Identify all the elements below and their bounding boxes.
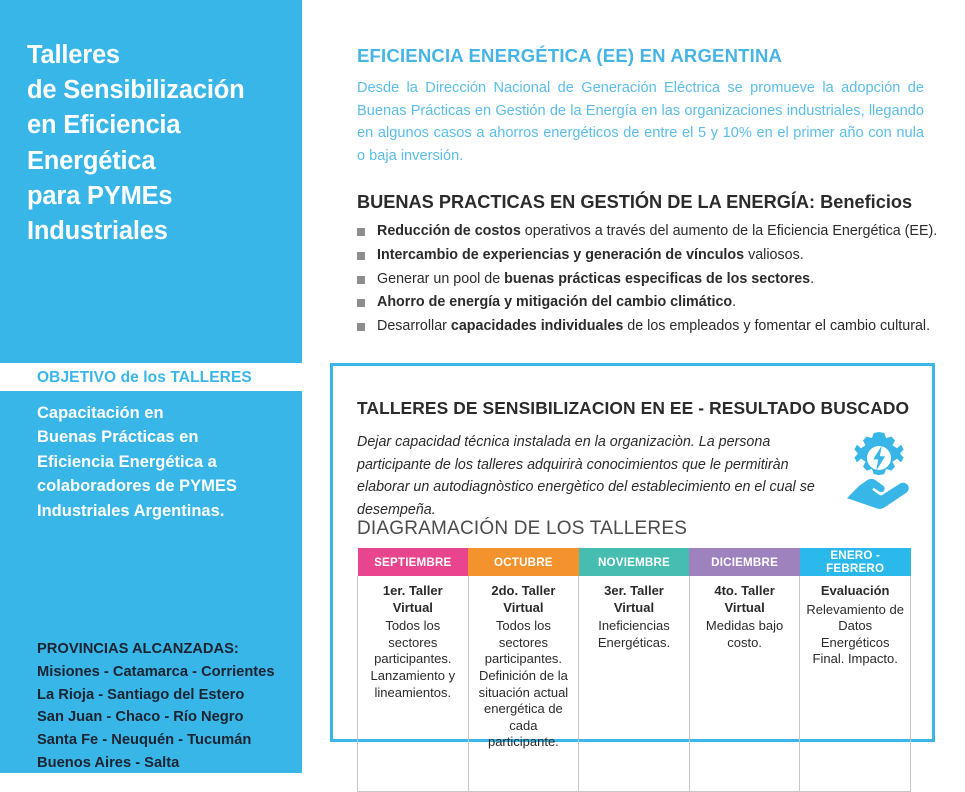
table-header-cell: SEPTIEMBRE xyxy=(358,548,469,576)
benefit-rest: . xyxy=(732,294,736,310)
objetivo-text: Capacitación enBuenas Prácticas enEficie… xyxy=(37,401,295,523)
list-item: Ahorro de energía y mitigación del cambi… xyxy=(357,292,932,313)
cell-body: Medidas bajo costo. xyxy=(695,618,795,651)
table-cell: Evaluación Relevamiento de Datos Energét… xyxy=(800,576,911,791)
benefit-rest: . xyxy=(810,271,814,287)
table-header-row: SEPTIEMBRE OCTUBRE NOVIEMBRE DICIEMBRE E… xyxy=(358,548,911,576)
table-cell: 2do. Taller Virtual Todos los sectores p… xyxy=(468,576,579,791)
cell-heading: 3er. Taller Virtual xyxy=(584,583,684,616)
benefit-mid: capacidades individuales xyxy=(451,318,623,334)
benefit-rest: de los empleados y fomentar el cambio cu… xyxy=(623,318,930,334)
benefit-lead: Intercambio de experiencias y generación… xyxy=(377,247,744,263)
bullet-square-icon xyxy=(357,323,365,331)
benefits-list: Reducción de costos operativos a través … xyxy=(357,221,932,340)
benefit-rest: operativos a través del aumento de la Ef… xyxy=(521,223,937,239)
bullet-square-icon xyxy=(357,228,365,236)
benefit-lead-plain: Desarrollar xyxy=(377,318,451,334)
intro-paragraph: Desde la Dirección Nacional de Generació… xyxy=(357,77,924,167)
cell-body: Ineficiencias Energéticas. xyxy=(584,618,684,651)
cell-body: Todos los sectores participantes. Lanzam… xyxy=(363,618,463,701)
benefit-lead: Ahorro de energía y mitigación del cambi… xyxy=(377,294,732,310)
table-header-cell: DICIEMBRE xyxy=(689,548,800,576)
gear-energy-in-hand-icon xyxy=(833,427,925,509)
benefits-title: BUENAS PRACTICAS EN GESTIÓN DE LA ENERGÍ… xyxy=(357,192,927,213)
intro-title: EFICIENCIA ENERGÉTICA (EE) EN ARGENTINA xyxy=(357,45,927,67)
table-cell: 3er. Taller Virtual Ineficiencias Energé… xyxy=(579,576,690,791)
provincias-heading: PROVINCIAS ALCANZADAS: xyxy=(37,638,299,661)
table-row: 1er. Taller Virtual Todos los sectores p… xyxy=(358,576,911,791)
cell-body: Relevamiento de Datos Energéticos Final.… xyxy=(805,602,905,668)
provincia-line: Santa Fe - Neuquén - Tucumán xyxy=(37,729,299,752)
table-header-cell: NOVIEMBRE xyxy=(579,548,690,576)
bullet-square-icon xyxy=(357,276,365,284)
provincia-line: Buenos Aires - Salta xyxy=(37,752,299,775)
panel-title: TALLERES DE SENSIBILIZACION EN EE - RESU… xyxy=(357,398,917,419)
benefit-lead-plain: Generar un pool de xyxy=(377,271,504,287)
schedule-table: SEPTIEMBRE OCTUBRE NOVIEMBRE DICIEMBRE E… xyxy=(357,548,911,792)
table-cell: 1er. Taller Virtual Todos los sectores p… xyxy=(358,576,469,791)
panel-paragraph: Dejar capacidad técnica instalada en la … xyxy=(357,431,827,521)
bullet-square-icon xyxy=(357,299,365,307)
list-item: Desarrollar capacidades individuales de … xyxy=(357,316,932,337)
table-header-cell: ENERO - FEBRERO xyxy=(800,548,911,576)
benefit-rest: valiosos. xyxy=(744,247,804,263)
provincia-line: San Juan - Chaco - Río Negro xyxy=(37,706,299,729)
benefit-mid: buenas prácticas especificas de los sect… xyxy=(504,271,810,287)
table-header-cell: OCTUBRE xyxy=(468,548,579,576)
list-item: Generar un pool de buenas prácticas espe… xyxy=(357,269,932,290)
cell-body: Todos los sectores participantes. Defini… xyxy=(474,618,574,751)
list-item: Intercambio de experiencias y generación… xyxy=(357,245,932,266)
page-title: Talleresde Sensibilizaciónen EficienciaE… xyxy=(27,38,292,249)
diagram-title: DIAGRAMACIÓN DE LOS TALLERES xyxy=(357,518,687,540)
provincias-block: PROVINCIAS ALCANZADAS: Misiones - Catama… xyxy=(37,638,299,775)
objetivo-band: OBJETIVO de los TALLERES xyxy=(27,364,302,391)
benefit-lead: Reducción de costos xyxy=(377,223,521,239)
cell-heading: 1er. Taller Virtual xyxy=(363,583,463,616)
cell-heading: 4to. Taller Virtual xyxy=(695,583,795,616)
cell-heading: 2do. Taller Virtual xyxy=(474,583,574,616)
cell-heading: Evaluación xyxy=(805,583,905,600)
table-cell: 4to. Taller Virtual Medidas bajo costo. xyxy=(689,576,800,791)
objetivo-band-label: OBJETIVO de los TALLERES xyxy=(27,369,252,387)
provincia-line: Misiones - Catamarca - Corrientes xyxy=(37,661,299,684)
provincia-line: La Rioja - Santiago del Estero xyxy=(37,684,299,707)
bullet-square-icon xyxy=(357,252,365,260)
list-item: Reducción de costos operativos a través … xyxy=(357,221,932,242)
